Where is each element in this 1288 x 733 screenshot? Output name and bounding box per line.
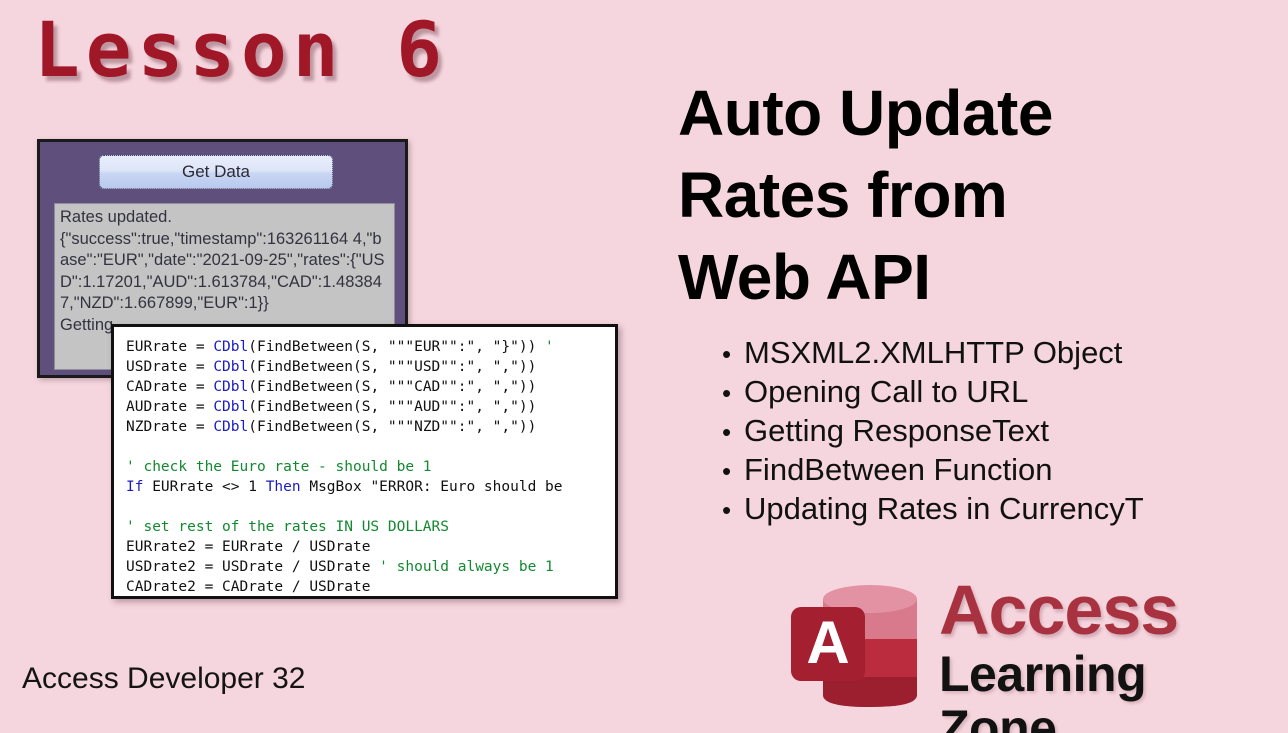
code-line: AUDrate = CDbl(FindBetween(S, """AUD"":"… [126,399,536,415]
bullet-icon: • [722,335,744,373]
logo-word-learning-zone: Learning Zone [939,647,1267,733]
vba-code-window: EURrate = CDbl(FindBetween(S, """EUR"":"… [111,324,618,599]
code-line: If EURrate <> 1 Then MsgBox "ERROR: Euro… [126,479,563,495]
code-line: USDrate = CDbl(FindBetween(S, """USD"":"… [126,359,536,375]
list-item: • MSXML2.XMLHTTP Object [722,334,1144,373]
access-learning-zone-logo: A Access Learning Zone [787,573,1267,721]
topics-list: • MSXML2.XMLHTTP Object • Opening Call t… [722,334,1144,529]
heading-line-1: Auto Update [678,72,1268,154]
list-item: • Opening Call to URL [722,373,1144,412]
list-item-label: FindBetween Function [744,451,1052,489]
list-item-label: Opening Call to URL [744,373,1028,411]
bullet-icon: • [722,491,744,529]
code-line: EURrate = CDbl(FindBetween(S, """EUR"":"… [126,339,554,355]
code-line: EURrate2 = EURrate / USDrate [126,539,370,555]
logo-wordmark: Access Learning Zone [939,575,1267,733]
heading-line-2: Rates from [678,154,1268,236]
access-database-icon: A [787,573,935,721]
code-line: ' check the Euro rate - should be 1 [126,459,432,475]
list-item: • FindBetween Function [722,451,1144,490]
list-item-label: Getting ResponseText [744,412,1049,450]
list-item-label: Updating Rates in CurrencyT [744,490,1144,528]
code-line: CADrate2 = CADrate / USDrate [126,579,370,595]
code-line: NZDrate = CDbl(FindBetween(S, """NZD"":"… [126,419,536,435]
lesson-title: Lesson 6 [34,8,448,92]
vba-code-block: EURrate = CDbl(FindBetween(S, """EUR"":"… [126,337,615,597]
get-data-button[interactable]: Get Data [99,155,333,189]
badge-letter: A [806,609,849,676]
bullet-icon: • [722,452,744,490]
logo-word-access: Access [939,575,1267,645]
bullet-icon: • [722,413,744,451]
main-heading: Auto Update Rates from Web API [678,72,1268,318]
code-line: CADrate = CDbl(FindBetween(S, """CAD"":"… [126,379,536,395]
heading-line-3: Web API [678,236,1268,318]
code-line: ' set rest of the rates IN US DOLLARS [126,519,449,535]
footer-course-label: Access Developer 32 [22,662,305,696]
list-item: • Updating Rates in CurrencyT [722,490,1144,529]
code-line: USDrate2 = USDrate / USDrate ' should al… [126,559,554,575]
bullet-icon: • [722,374,744,412]
list-item-label: MSXML2.XMLHTTP Object [744,334,1122,372]
list-item: • Getting ResponseText [722,412,1144,451]
